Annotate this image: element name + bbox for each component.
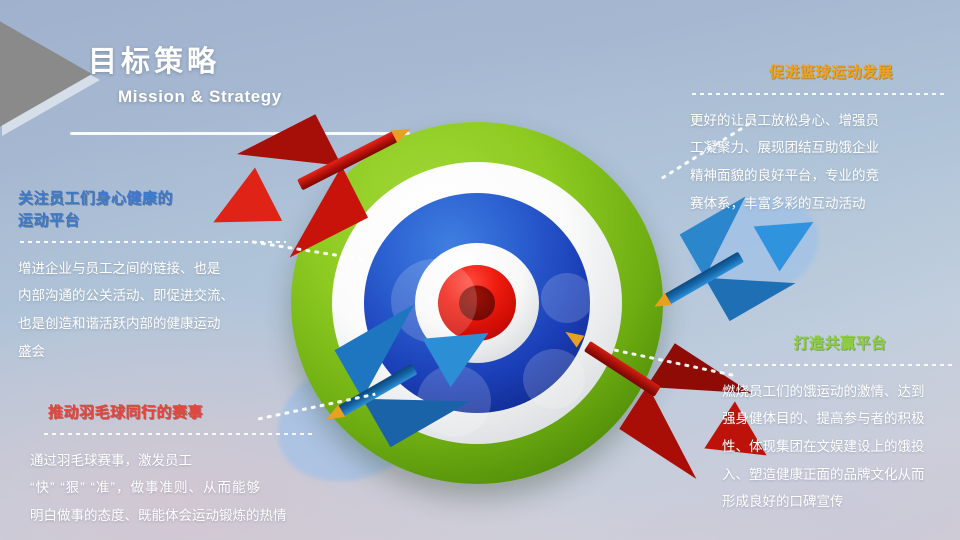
- callout-divider: [18, 241, 286, 243]
- body-line: 入、塑造健康正面的品牌文化从而: [722, 461, 958, 489]
- callout-body-bottom-right: 燃烧员工们的饿运动的激情、达到 强身健体目的、提高参与者的积极 性、体现集团在文…: [722, 378, 958, 516]
- page-title: 目标策略: [88, 44, 508, 80]
- triangle-icon: [0, 18, 92, 130]
- heading-line: 促进篮球运动发展: [704, 62, 958, 84]
- body-line: 盛会: [18, 338, 294, 366]
- body-line: 燃烧员工们的饿运动的激情、达到: [722, 378, 958, 406]
- body-line: 增进企业与员工之间的链接、也是: [18, 255, 294, 283]
- body-line: 明白做事的态度、既能体会运动锻炼的热情: [30, 502, 330, 530]
- heading-line: 推动羽毛球同行的赛事: [48, 402, 330, 424]
- callout-heading-top-right: 促进篮球运动发展: [704, 62, 958, 84]
- page-subtitle: Mission & Strategy: [118, 87, 508, 107]
- callout-heading-top-left: 关注员工们身心健康的 运动平台: [18, 188, 294, 232]
- callout-top-right: 促进篮球运动发展 更好的让员工放松身心、增强员 工凝聚力、展现团结互助饿企业 精…: [690, 62, 958, 217]
- heading-line: 运动平台: [18, 210, 294, 232]
- callout-heading-bottom-left: 推动羽毛球同行的赛事: [48, 402, 330, 424]
- callout-body-top-right: 更好的让员工放松身心、增强员 工凝聚力、展现团结互助饿企业 精神面貌的良好平台，…: [690, 107, 958, 218]
- body-line: 工凝聚力、展现团结互助饿企业: [690, 134, 958, 162]
- callout-divider: [690, 93, 948, 95]
- heading-line: 关注员工们身心健康的: [18, 188, 294, 210]
- body-line: “快” “狠” “准”，做事准则、从而能够: [30, 474, 330, 502]
- body-line: 性、体现集团在文娱建设上的饿投: [722, 433, 958, 461]
- callout-bottom-right: 打造共赢平台 燃烧员工们的饿运动的激情、达到 强身健体目的、提高参与者的积极 性…: [722, 333, 958, 516]
- callout-heading-bottom-right: 打造共赢平台: [722, 333, 958, 355]
- callout-bottom-left: 推动羽毛球同行的赛事 通过羽毛球赛事，激发员工 “快” “狠” “准”，做事准则…: [30, 402, 330, 530]
- body-line: 强身健体目的、提高参与者的积极: [722, 405, 958, 433]
- callout-body-bottom-left: 通过羽毛球赛事，激发员工 “快” “狠” “准”，做事准则、从而能够 明白做事的…: [30, 447, 330, 530]
- body-line: 更好的让员工放松身心、增强员: [690, 107, 958, 135]
- callout-top-left: 关注员工们身心健康的 运动平台 增进企业与员工之间的链接、也是 内部沟通的公关活…: [18, 188, 294, 365]
- body-line: 赛体系，丰富多彩的互动活动: [690, 190, 958, 218]
- body-line: 形成良好的口碑宣传: [722, 488, 958, 516]
- callout-divider: [722, 364, 954, 366]
- body-line: 通过羽毛球赛事，激发员工: [30, 447, 330, 475]
- slide-canvas: 目标策略 Mission & Strategy: [0, 0, 960, 540]
- callout-body-top-left: 增进企业与员工之间的链接、也是 内部沟通的公关活动、即促进交流、 也是创造和谐活…: [18, 255, 294, 366]
- callout-divider: [42, 433, 312, 435]
- body-line: 也是创造和谐活跃内部的健康运动: [18, 310, 294, 338]
- heading-line: 打造共赢平台: [722, 333, 958, 355]
- body-line: 精神面貌的良好平台，专业的竞: [690, 162, 958, 190]
- body-line: 内部沟通的公关活动、即促进交流、: [18, 282, 294, 310]
- title-block: 目标策略 Mission & Strategy: [88, 44, 508, 107]
